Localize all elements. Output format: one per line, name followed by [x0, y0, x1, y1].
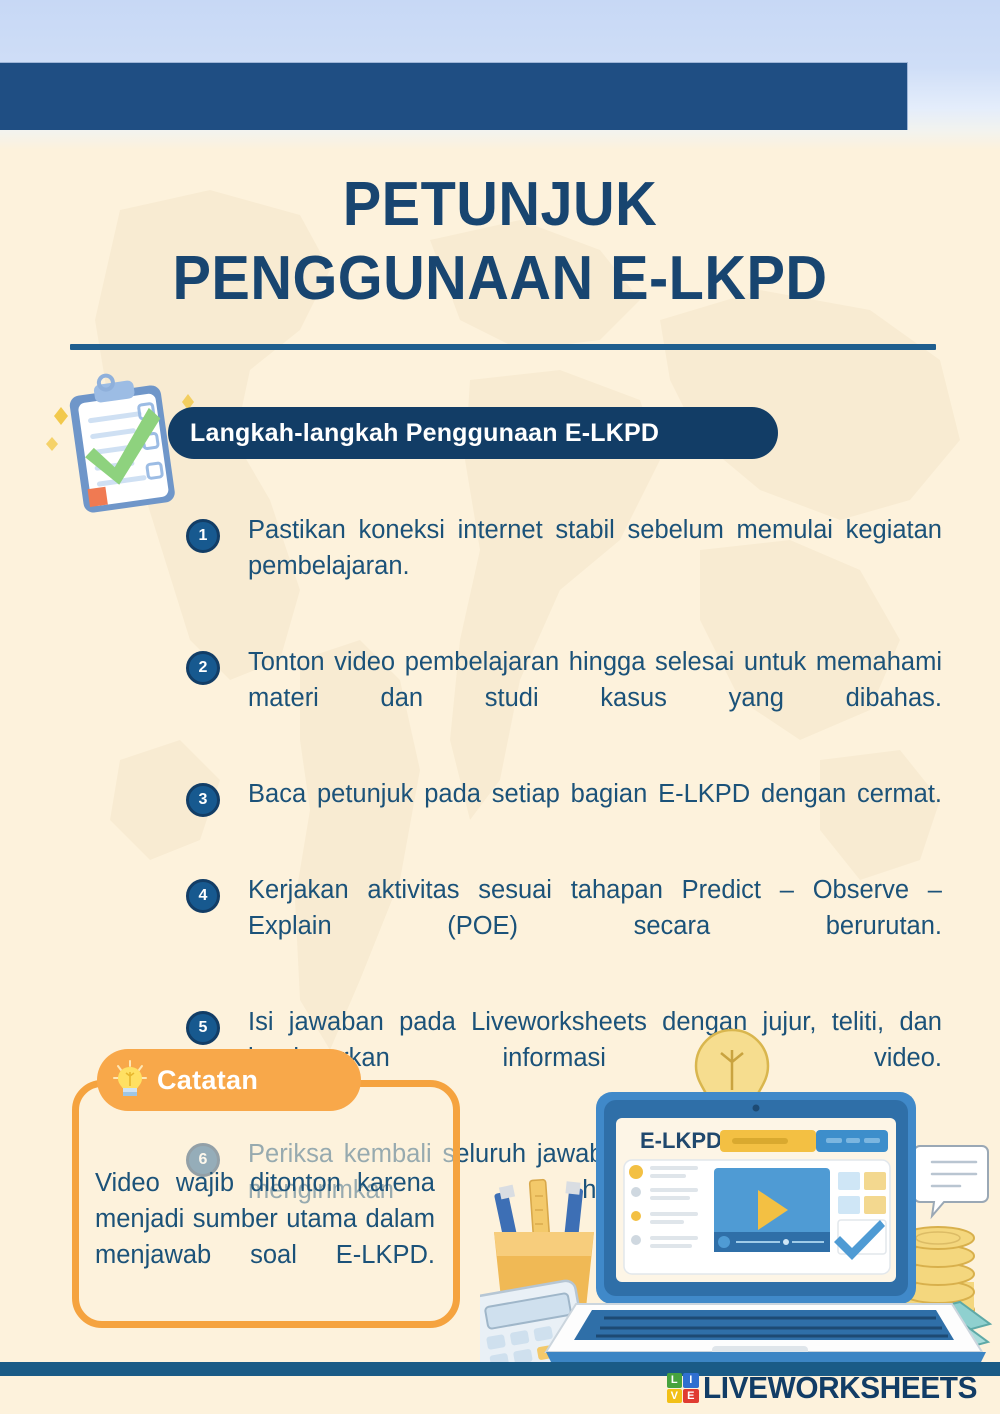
step-number-badge: 2 [186, 651, 220, 685]
title-divider [70, 344, 936, 350]
step-number-badge: 4 [186, 879, 220, 913]
list-item: 2 Tonton video pembelajaran hingga seles… [186, 644, 942, 752]
step-text: Tonton video pembelajaran hingga selesai… [248, 644, 942, 752]
step-text: Kerjakan aktivitas sesuai tahapan Predic… [248, 872, 942, 980]
header-bar [0, 62, 908, 130]
logo-letter-i: I [683, 1373, 699, 1388]
list-item: 4 Kerjakan aktivitas sesuai tahapan Pred… [186, 872, 942, 980]
liveworksheets-brand: L I V E LIVEWORKSHEETS [667, 1370, 988, 1406]
note-body: Video wajib ditonton karena menjadi sumb… [95, 1165, 435, 1309]
list-item: 1 Pastikan koneksi internet stabil sebel… [186, 512, 942, 620]
brand-name: LIVEWORKSHEETS [703, 1370, 977, 1406]
page-title: PETUNJUK PENGGUNAAN E-LKPD [0, 168, 1000, 316]
screen-label: E-LKPD [640, 1128, 722, 1153]
step-text: Pastikan koneksi internet stabil sebelum… [248, 512, 942, 620]
note-box: Catatan Video wajib ditonton karena menj… [72, 1080, 460, 1328]
step-number-badge: 3 [186, 783, 220, 817]
note-header: Catatan [97, 1049, 361, 1111]
step-text: Baca petunjuk pada setiap bagian E-LKPD … [248, 776, 942, 848]
logo-letter-l: L [667, 1373, 683, 1388]
liveworksheets-logo-icon: L I V E [667, 1373, 699, 1403]
title-line-1: PETUNJUK [35, 168, 965, 242]
logo-letter-v: V [667, 1389, 683, 1404]
step-number-badge: 5 [186, 1011, 220, 1045]
speech-bubble-icon [914, 1146, 988, 1216]
step-number-badge: 1 [186, 519, 220, 553]
list-item: 3 Baca petunjuk pada setiap bagian E-LKP… [186, 776, 942, 848]
worksheet-page: PETUNJUK PENGGUNAAN E-LKPD [0, 0, 1000, 1414]
note-title: Catatan [157, 1065, 258, 1096]
title-line-2: PENGGUNAAN E-LKPD [35, 242, 965, 316]
section-banner: Langkah-langkah Penggunaan E-LKPD [168, 407, 778, 459]
lightbulb-icon [113, 1060, 147, 1100]
laptop-illustration: E-LKPD [480, 1020, 1000, 1370]
logo-letter-e: E [683, 1389, 699, 1404]
section-banner-label: Langkah-langkah Penggunaan E-LKPD [190, 419, 659, 448]
